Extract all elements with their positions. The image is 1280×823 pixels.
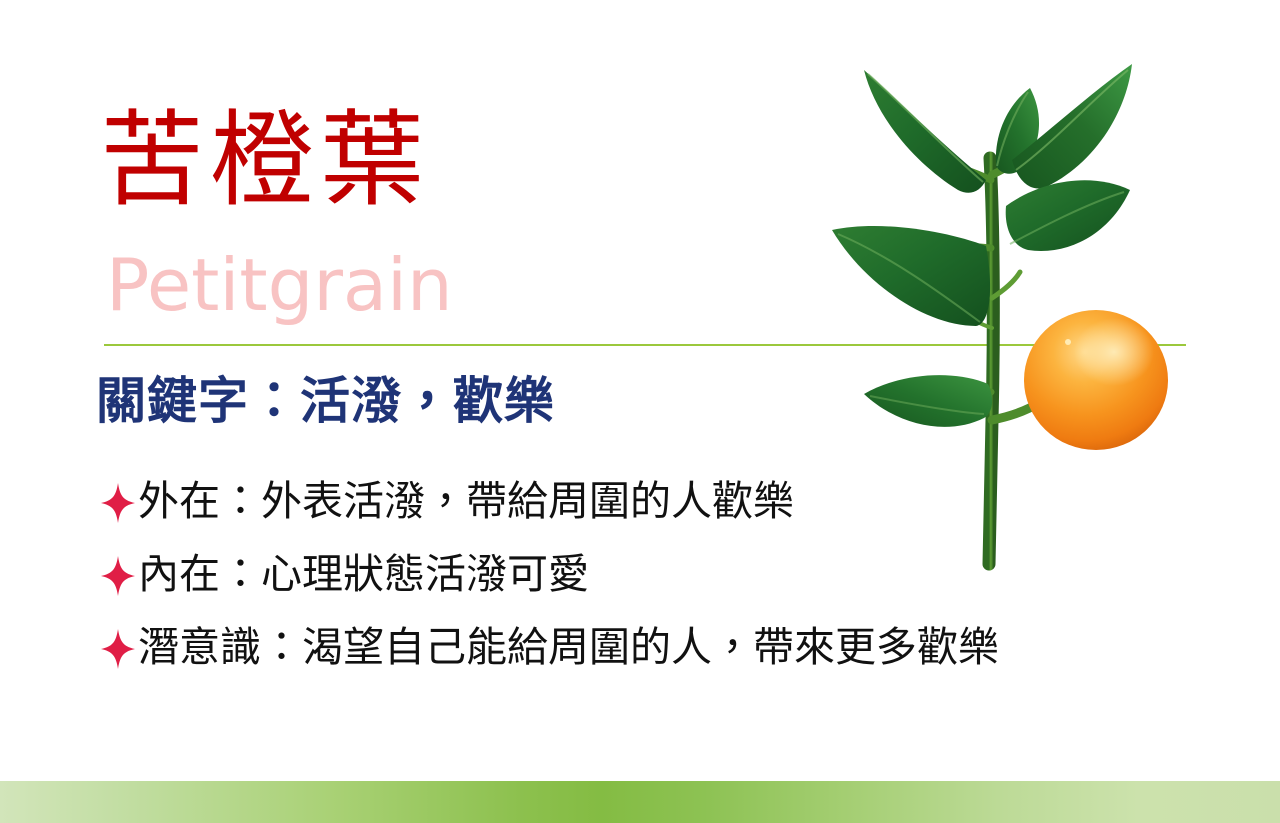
- four-pointed-star-icon: [98, 480, 138, 526]
- four-pointed-star-icon: [98, 626, 138, 672]
- list-item-label: 內在：心理狀態活潑可愛: [138, 551, 589, 597]
- bullet-list: 外在：外表活潑，帶給周圍的人歡樂 內在：心理狀態活潑可愛 潛意識：渴望自己能給周…: [98, 478, 1198, 697]
- list-item: 潛意識：渴望自己能給周圍的人，帶來更多歡樂: [98, 624, 1198, 697]
- bottom-accent-bar: [0, 781, 1280, 823]
- four-pointed-star-icon: [98, 553, 138, 599]
- slide-canvas: 苦橙葉 Petitgrain 關鍵字：活潑，歡樂 外在：外表活潑，帶給周圍的人歡…: [0, 0, 1280, 823]
- title-divider: [104, 344, 1186, 346]
- page-subtitle-english: Petitgrain: [106, 246, 453, 325]
- page-title-chinese: 苦橙葉: [100, 104, 430, 216]
- keyword-line: 關鍵字：活潑，歡樂: [96, 372, 555, 430]
- list-item-label: 潛意識：渴望自己能給周圍的人，帶來更多歡樂: [138, 624, 999, 670]
- list-item: 外在：外表活潑，帶給周圍的人歡樂: [98, 478, 1198, 551]
- list-item: 內在：心理狀態活潑可愛: [98, 551, 1198, 624]
- list-item-label: 外在：外表活潑，帶給周圍的人歡樂: [138, 478, 794, 524]
